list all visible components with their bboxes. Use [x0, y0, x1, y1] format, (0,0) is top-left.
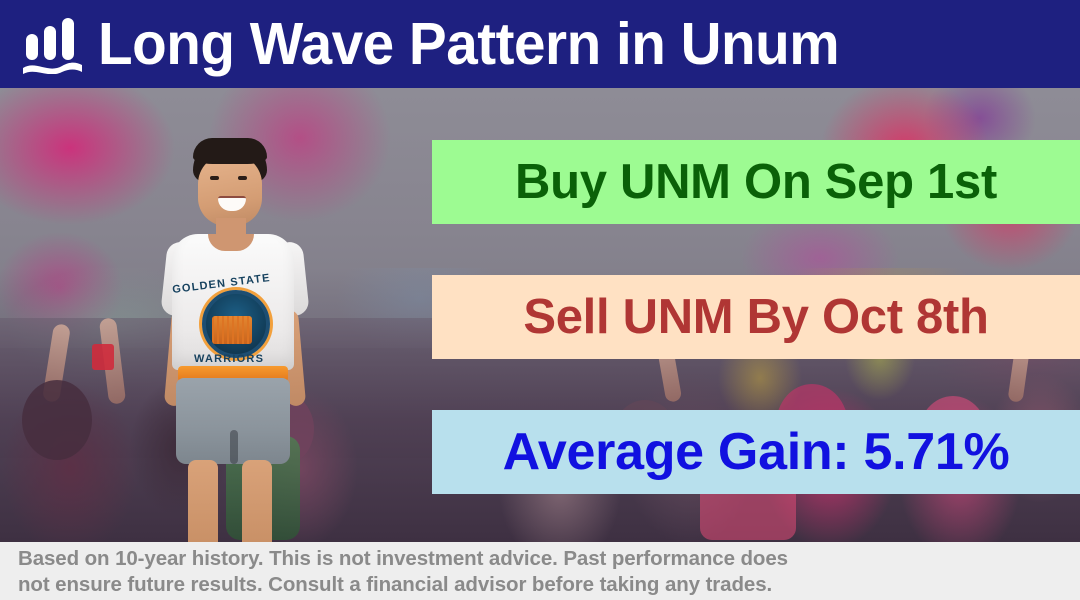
eye-right	[238, 176, 247, 180]
leg-right	[242, 460, 272, 542]
leg-left	[188, 460, 218, 542]
hair-front	[193, 138, 267, 164]
header-bar: Long Wave Pattern in Unum	[0, 0, 1080, 88]
callout-buy: Buy UNM On Sep 1st	[432, 140, 1080, 224]
callout-sell: Sell UNM By Oct 8th	[432, 275, 1080, 359]
shorts-split	[230, 430, 238, 464]
callout-average-gain: Average Gain: 5.71%	[432, 410, 1080, 494]
face	[198, 154, 262, 226]
wave-bars-logo-icon	[22, 16, 84, 74]
callout-buy-label: Buy UNM On Sep 1st	[515, 158, 997, 207]
trade-signal-poster: Long Wave Pattern in Unum	[0, 0, 1080, 600]
disclaimer-line-1: Based on 10-year history. This is not in…	[18, 546, 1066, 572]
foreground-person: GOLDEN STATE WARRIORS	[150, 138, 320, 542]
shirt-bottom-text: WARRIORS	[194, 353, 264, 365]
eye-left	[210, 176, 219, 180]
bridge-graphic-icon	[212, 316, 252, 344]
disclaimer-line-2: not ensure future results. Consult a fin…	[18, 572, 1066, 598]
callout-sell-label: Sell UNM By Oct 8th	[523, 293, 988, 342]
disclaimer-footer: Based on 10-year history. This is not in…	[0, 542, 1080, 600]
callout-average-gain-label: Average Gain: 5.71%	[503, 426, 1010, 478]
page-title: Long Wave Pattern in Unum	[98, 15, 839, 74]
